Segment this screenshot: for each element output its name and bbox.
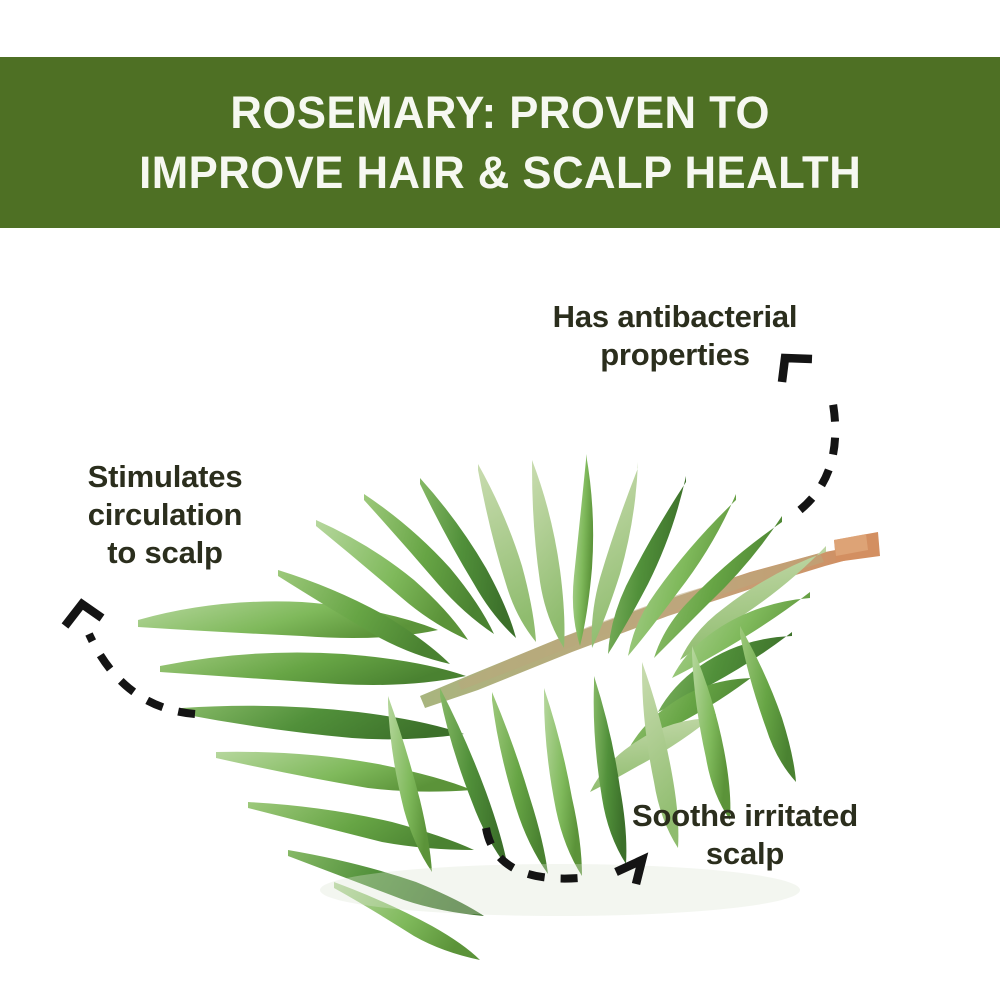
infographic-page: ROSEMARY: PROVEN TO IMPROVE HAIR & SCALP… [0, 0, 1000, 1000]
annotation-label-circulation: Stimulates circulation to scalp [40, 458, 290, 571]
header-banner: ROSEMARY: PROVEN TO IMPROVE HAIR & SCALP… [0, 57, 1000, 228]
annotation-label-antibacterial: Has antibacterial properties [490, 298, 860, 374]
banner-title: ROSEMARY: PROVEN TO IMPROVE HAIR & SCALP… [139, 83, 861, 202]
annotation-label-soothe: Soothe irritated scalp [580, 797, 910, 873]
sprig-cut-end [834, 532, 880, 562]
sprig-leaves-center [532, 454, 826, 660]
